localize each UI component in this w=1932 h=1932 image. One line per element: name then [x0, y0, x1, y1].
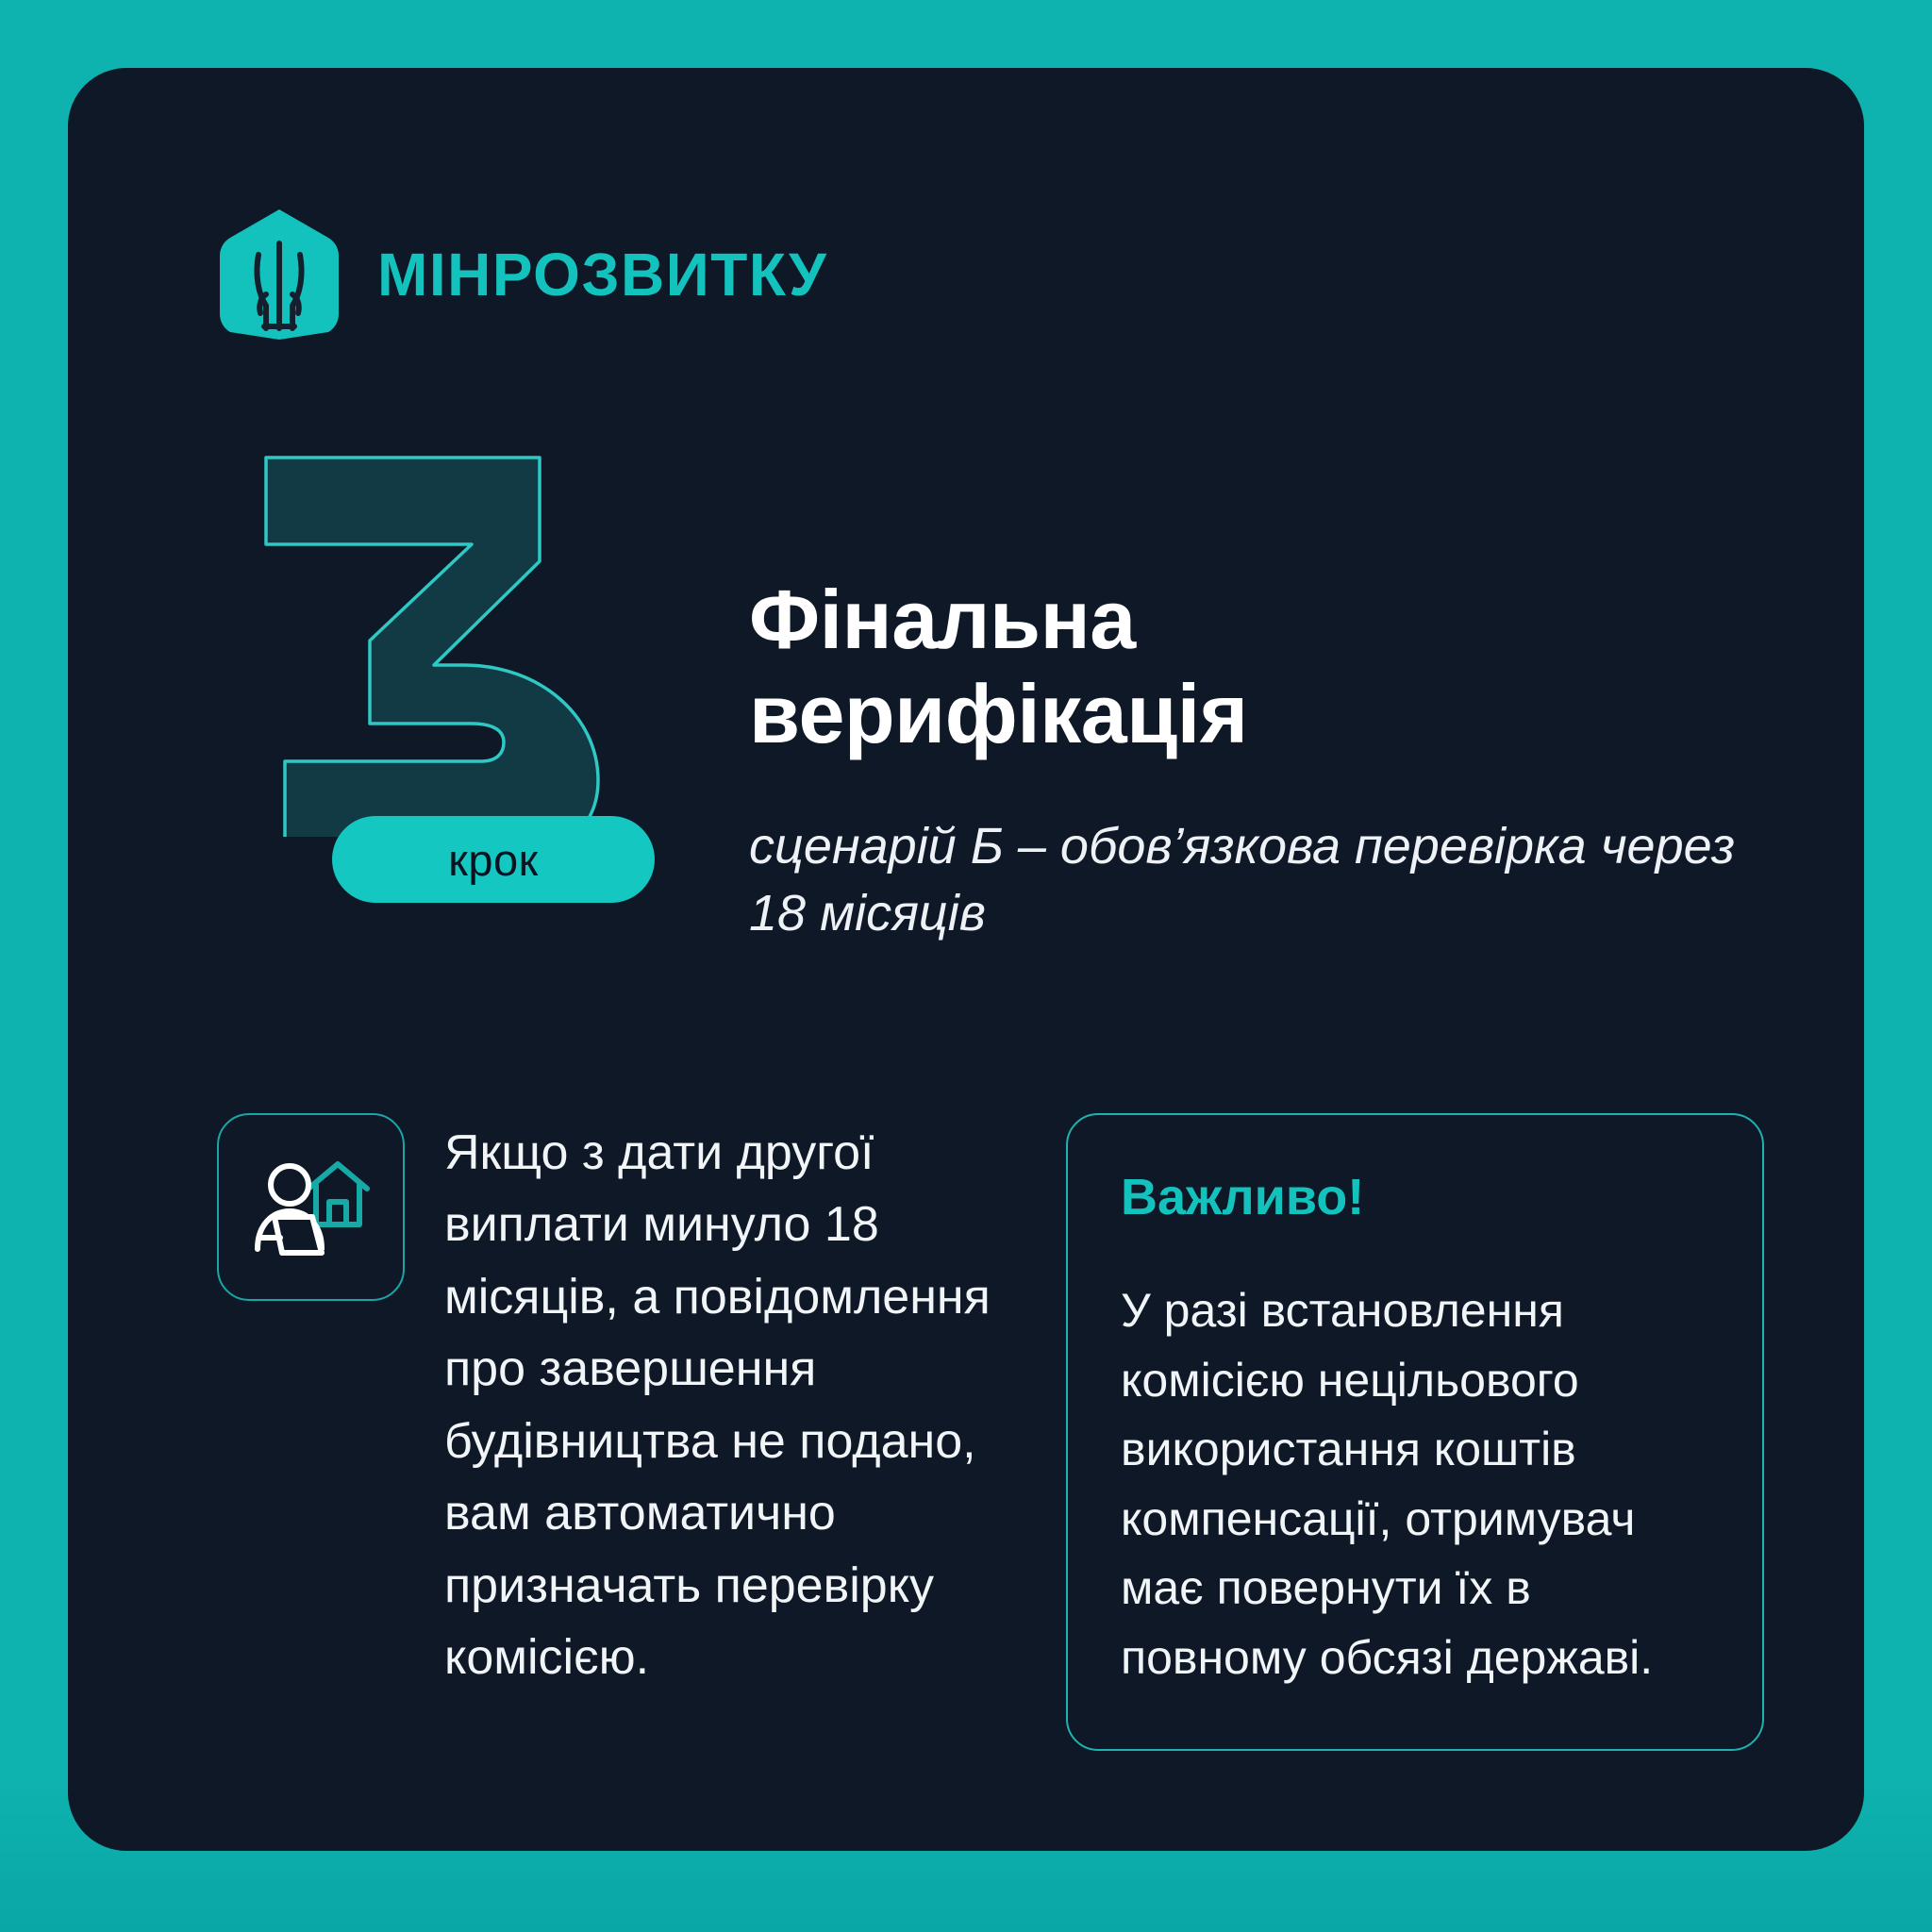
info-paragraph: Якщо з дати другої виплати минуло 18 міс… — [444, 1113, 991, 1694]
page-title: Фінальна верифікація — [749, 573, 1334, 762]
step-indicator: крок — [228, 441, 672, 837]
important-paragraph: У разі встановлення комісією нецільового… — [1121, 1276, 1709, 1692]
step-number-outline — [228, 441, 672, 837]
brand-header: МІНРОЗВИТКУ — [217, 208, 827, 341]
lower-content: Якщо з дати другої виплати минуло 18 міс… — [217, 1113, 1858, 1751]
ukraine-trident-shield-icon — [217, 208, 341, 341]
important-card: Важливо! У разі встановлення комісією не… — [1066, 1113, 1764, 1751]
heading-group: Фінальна верифікація сценарій Б – обов’я… — [749, 573, 1815, 947]
infographic-canvas: МІНРОЗВИТКУ крок Фінальна верифікація сц… — [0, 0, 1932, 1932]
brand-name: МІНРОЗВИТКУ — [377, 244, 827, 305]
step-badge: крок — [332, 816, 655, 903]
person-with-document-and-house-icon — [217, 1113, 405, 1301]
info-block: Якщо з дати другої виплати минуло 18 міс… — [217, 1113, 991, 1694]
important-title: Важливо! — [1121, 1170, 1709, 1225]
page-subtitle: сценарій Б – обов’язкова перевірка через… — [749, 813, 1796, 948]
content-card: МІНРОЗВИТКУ крок Фінальна верифікація сц… — [68, 68, 1864, 1851]
